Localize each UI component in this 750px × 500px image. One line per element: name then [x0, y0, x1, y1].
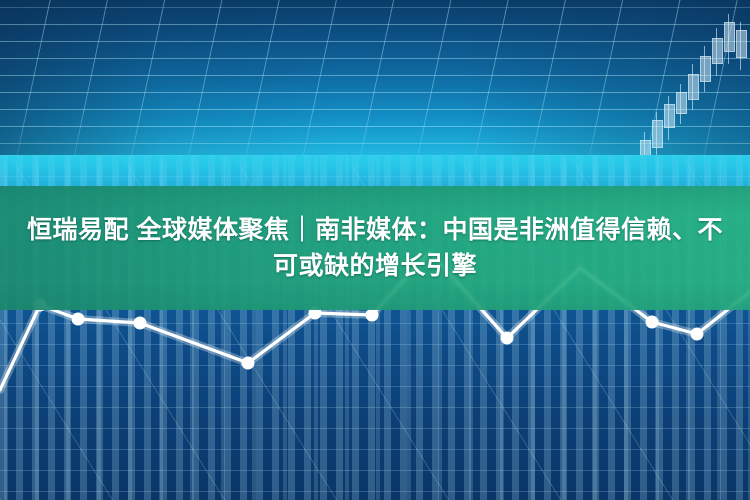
candle-body: [652, 120, 663, 148]
candle-body: [676, 92, 687, 114]
candle-body: [724, 22, 735, 52]
candle-body: [688, 74, 699, 100]
news-banner-image: 恒瑞易配 全球媒体聚焦｜南非媒体：中国是非洲值得信赖、不 可或缺的增长引擎: [0, 0, 750, 500]
headline-line-2: 可或缺的增长引擎: [273, 248, 477, 284]
candle-body: [700, 56, 711, 82]
candle-body: [736, 30, 747, 58]
candle-body: [664, 104, 675, 128]
headline-line-1: 恒瑞易配 全球媒体聚焦｜南非媒体：中国是非洲值得信赖、不: [15, 212, 735, 248]
candle-body: [712, 38, 723, 64]
headline-block: 恒瑞易配 全球媒体聚焦｜南非媒体：中国是非洲值得信赖、不 可或缺的增长引擎: [0, 186, 750, 310]
